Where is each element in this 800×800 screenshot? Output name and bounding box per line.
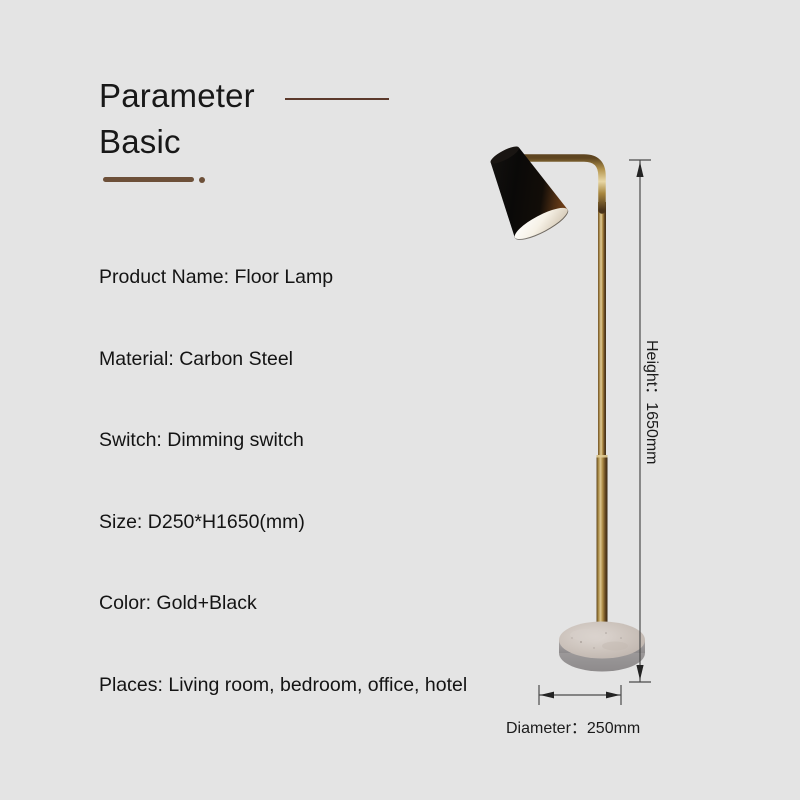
diameter-dimension-line <box>530 683 630 709</box>
accent-bar-decoration <box>103 177 194 182</box>
page-title-line-1: Parameter <box>99 76 255 116</box>
accent-dot-decoration <box>199 177 205 183</box>
lamp-shade <box>476 137 572 246</box>
page-title-line-2: Basic <box>99 122 181 162</box>
height-dimension-label: Height：1650mm <box>642 340 666 510</box>
diameter-dimension-label: Diameter：250mm <box>506 714 640 738</box>
product-spec-page: Parameter Basic Product Name: Floor Lamp… <box>0 0 800 800</box>
title-rule-decoration <box>285 98 389 100</box>
